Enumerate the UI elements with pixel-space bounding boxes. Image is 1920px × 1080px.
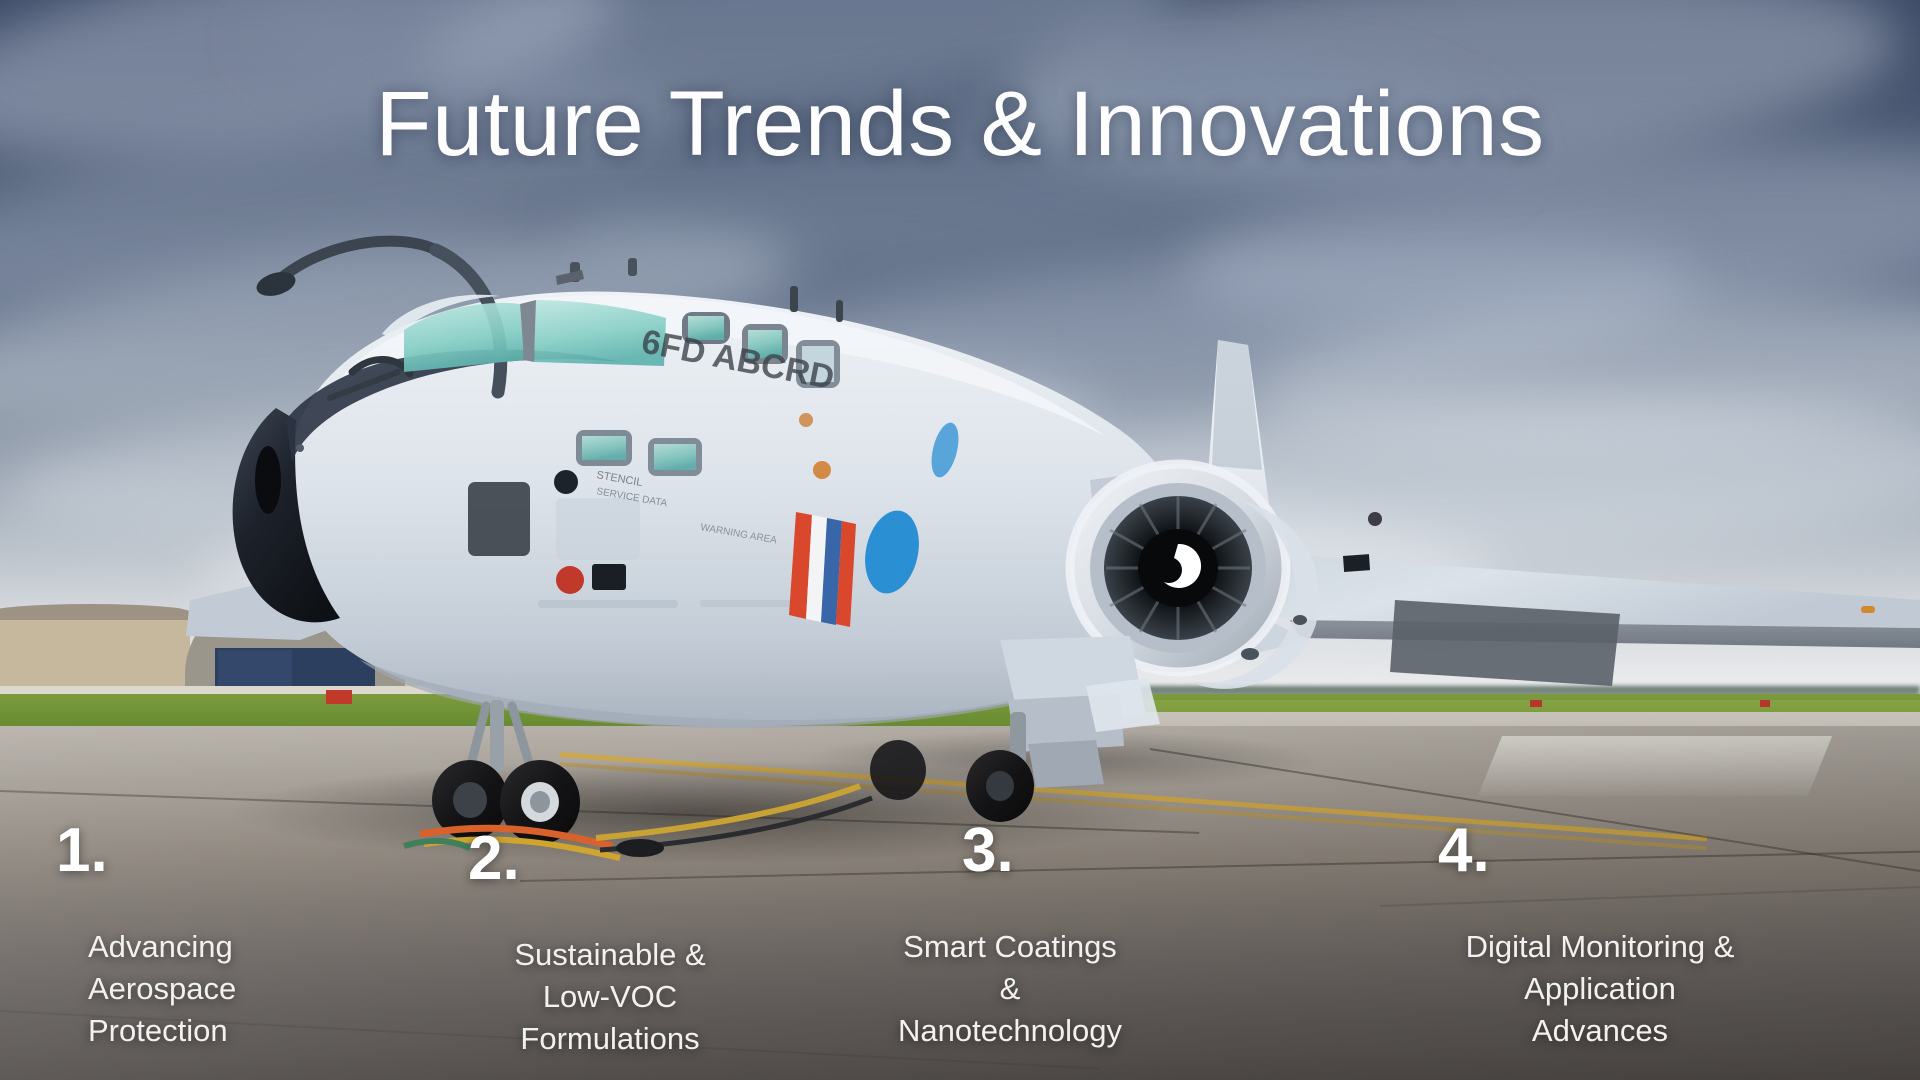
item-number-3: 3. xyxy=(962,820,1014,882)
item-number-1: 1. xyxy=(56,820,108,882)
item-caption-1: Advancing Aerospace Protection xyxy=(88,926,418,1052)
presentation-slide: 6FD ABCRD STENCIL SERVICE DATA WARNING A… xyxy=(0,0,1920,1080)
item-number-2: 2. xyxy=(468,828,520,890)
item-caption-2: Sustainable & Low-VOC Formulations xyxy=(440,934,780,1060)
item-caption-4: Digital Monitoring & Application Advance… xyxy=(1380,926,1820,1052)
page-title: Future Trends & Innovations xyxy=(0,78,1920,170)
item-number-4: 4. xyxy=(1438,820,1490,882)
item-caption-3: Smart Coatings & Nanotechnology xyxy=(820,926,1200,1052)
